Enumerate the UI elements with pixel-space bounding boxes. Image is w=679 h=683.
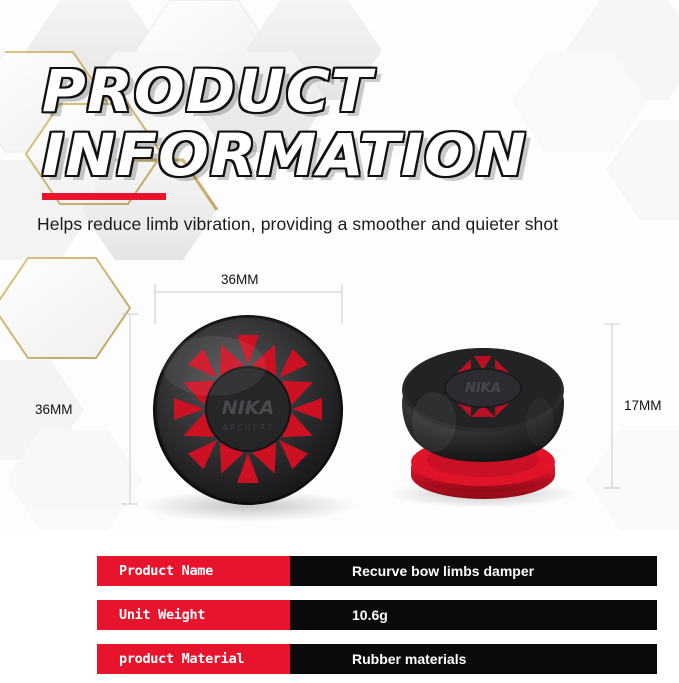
damper-top-view: NIKA ARCHERY	[153, 315, 343, 505]
brand-text: NIKA	[222, 397, 274, 419]
spec-key-product-material: product Material	[97, 644, 290, 674]
specification-table: Product Name Recurve bow limbs damper Un…	[97, 556, 657, 683]
title-line-product: PRODUCT	[42, 62, 670, 120]
table-row: Product Name Recurve bow limbs damper	[97, 556, 657, 586]
spec-key-product-name: Product Name	[97, 556, 290, 586]
title-line-information: INFORMATION	[42, 126, 670, 184]
dimension-depth-label: 17MM	[624, 398, 662, 413]
dimension-height-label: 36MM	[35, 402, 73, 417]
spec-key-unit-weight: Unit Weight	[97, 600, 290, 630]
table-row: Unit Weight 10.6g	[97, 600, 657, 630]
spec-value-product-name: Recurve bow limbs damper	[290, 556, 657, 586]
dimension-width-label: 36MM	[221, 272, 259, 287]
title-red-underline	[42, 193, 166, 200]
spec-value-unit-weight: 10.6g	[290, 600, 657, 630]
svg-text:NIKA: NIKA	[465, 381, 501, 396]
page-subtitle: Helps reduce limb vibration, providing a…	[37, 214, 657, 235]
spec-value-product-material: Rubber materials	[290, 644, 657, 674]
product-information-page: PRODUCT INFORMATION Helps reduce limb vi…	[0, 0, 679, 683]
brand-sub-text: ARCHERY	[222, 423, 273, 432]
table-row: product Material Rubber materials	[97, 644, 657, 674]
page-title: PRODUCT INFORMATION	[42, 62, 652, 184]
product-photo-area: NIKA ARCHERY	[0, 262, 679, 534]
damper-side-view: NIKA	[402, 348, 564, 499]
product-illustration: NIKA ARCHERY	[0, 262, 679, 534]
